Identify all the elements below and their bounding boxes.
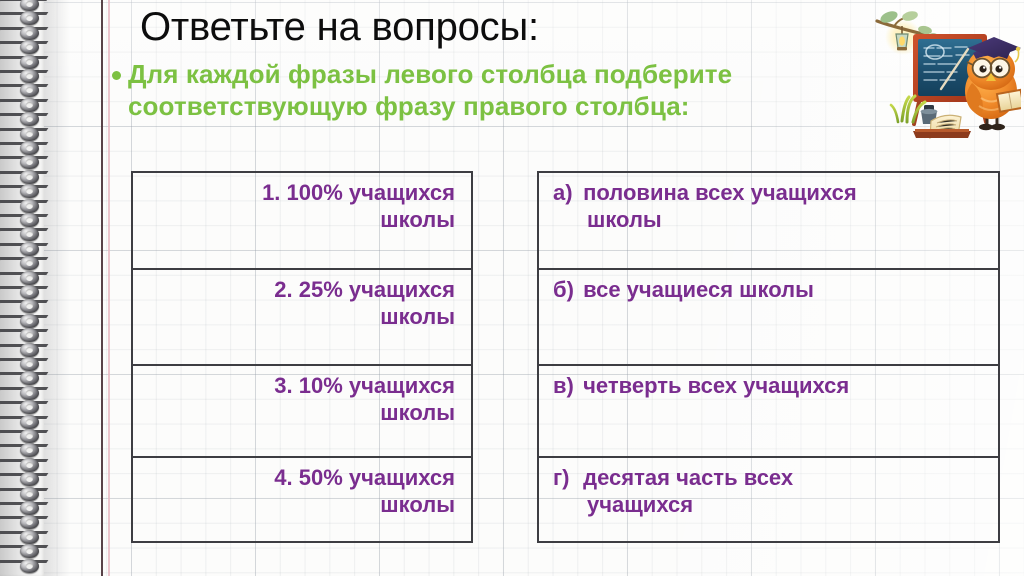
slide-content: Ответьте на вопросы: Для каждой фразы ле… xyxy=(0,0,1024,576)
table-row[interactable]: б) все учащиеся школы xyxy=(538,269,999,365)
right-cell-b[interactable]: б) все учащиеся школы xyxy=(538,269,999,365)
table-row[interactable]: 4. 50% учащихся школы xyxy=(132,457,472,542)
right-cell-b-line1: все учащиеся школы xyxy=(583,277,814,302)
right-cell-v[interactable]: в) четверть всех учащихся xyxy=(538,365,999,457)
left-cell-1-line2: школы xyxy=(380,207,455,232)
right-cell-g-label: г) xyxy=(553,464,577,491)
left-cell-2-line2: школы xyxy=(380,304,455,329)
right-column-table: а) половина всех учащихся школы б) все у… xyxy=(537,171,1000,543)
left-cell-4-line2: школы xyxy=(380,492,455,517)
owl-with-chalkboard-illustration xyxy=(869,3,1021,143)
instruction-text: Для каждой фразы левого столбца подберит… xyxy=(128,58,882,122)
table-row[interactable]: 1. 100% учащихся школы xyxy=(132,172,472,269)
left-cell-1-line1: 1. 100% учащихся xyxy=(262,180,455,205)
right-cell-v-label: в) xyxy=(553,372,577,399)
table-row[interactable]: в) четверть всех учащихся xyxy=(538,365,999,457)
right-cell-g[interactable]: г) десятая часть всех учащихся xyxy=(538,457,999,542)
table-row[interactable]: 3. 10% учащихся школы xyxy=(132,365,472,457)
left-column-table: 1. 100% учащихся школы 2. 25% учащихся ш… xyxy=(131,171,473,543)
right-cell-a-line1: половина всех учащихся xyxy=(583,180,857,205)
left-cell-3-line2: школы xyxy=(380,400,455,425)
right-cell-a-line2: школы xyxy=(553,206,988,233)
left-cell-2-line1: 2. 25% учащихся xyxy=(274,277,455,302)
left-cell-1[interactable]: 1. 100% учащихся школы xyxy=(132,172,472,269)
right-cell-b-label: б) xyxy=(553,276,577,303)
right-cell-v-line1: четверть всех учащихся xyxy=(583,373,849,398)
slide-canvas: Ответьте на вопросы: Для каждой фразы ле… xyxy=(0,0,1024,576)
right-cell-a-label: а) xyxy=(553,179,577,206)
instruction-bullet: Для каждой фразы левого столбца подберит… xyxy=(112,58,882,122)
left-cell-4-line1: 4. 50% учащихся xyxy=(274,465,455,490)
right-cell-g-line2: учащихся xyxy=(553,491,988,518)
page-title: Ответьте на вопросы: xyxy=(140,4,539,50)
left-cell-3-line1: 3. 10% учащихся xyxy=(274,373,455,398)
bullet-dot-icon xyxy=(112,71,121,80)
right-cell-g-line1: десятая часть всех xyxy=(583,465,793,490)
table-row[interactable]: а) половина всех учащихся школы xyxy=(538,172,999,269)
right-cell-a[interactable]: а) половина всех учащихся школы xyxy=(538,172,999,269)
left-cell-2[interactable]: 2. 25% учащихся школы xyxy=(132,269,472,365)
left-cell-4[interactable]: 4. 50% учащихся школы xyxy=(132,457,472,542)
left-cell-3[interactable]: 3. 10% учащихся школы xyxy=(132,365,472,457)
table-row[interactable]: г) десятая часть всех учащихся xyxy=(538,457,999,542)
table-row[interactable]: 2. 25% учащихся школы xyxy=(132,269,472,365)
